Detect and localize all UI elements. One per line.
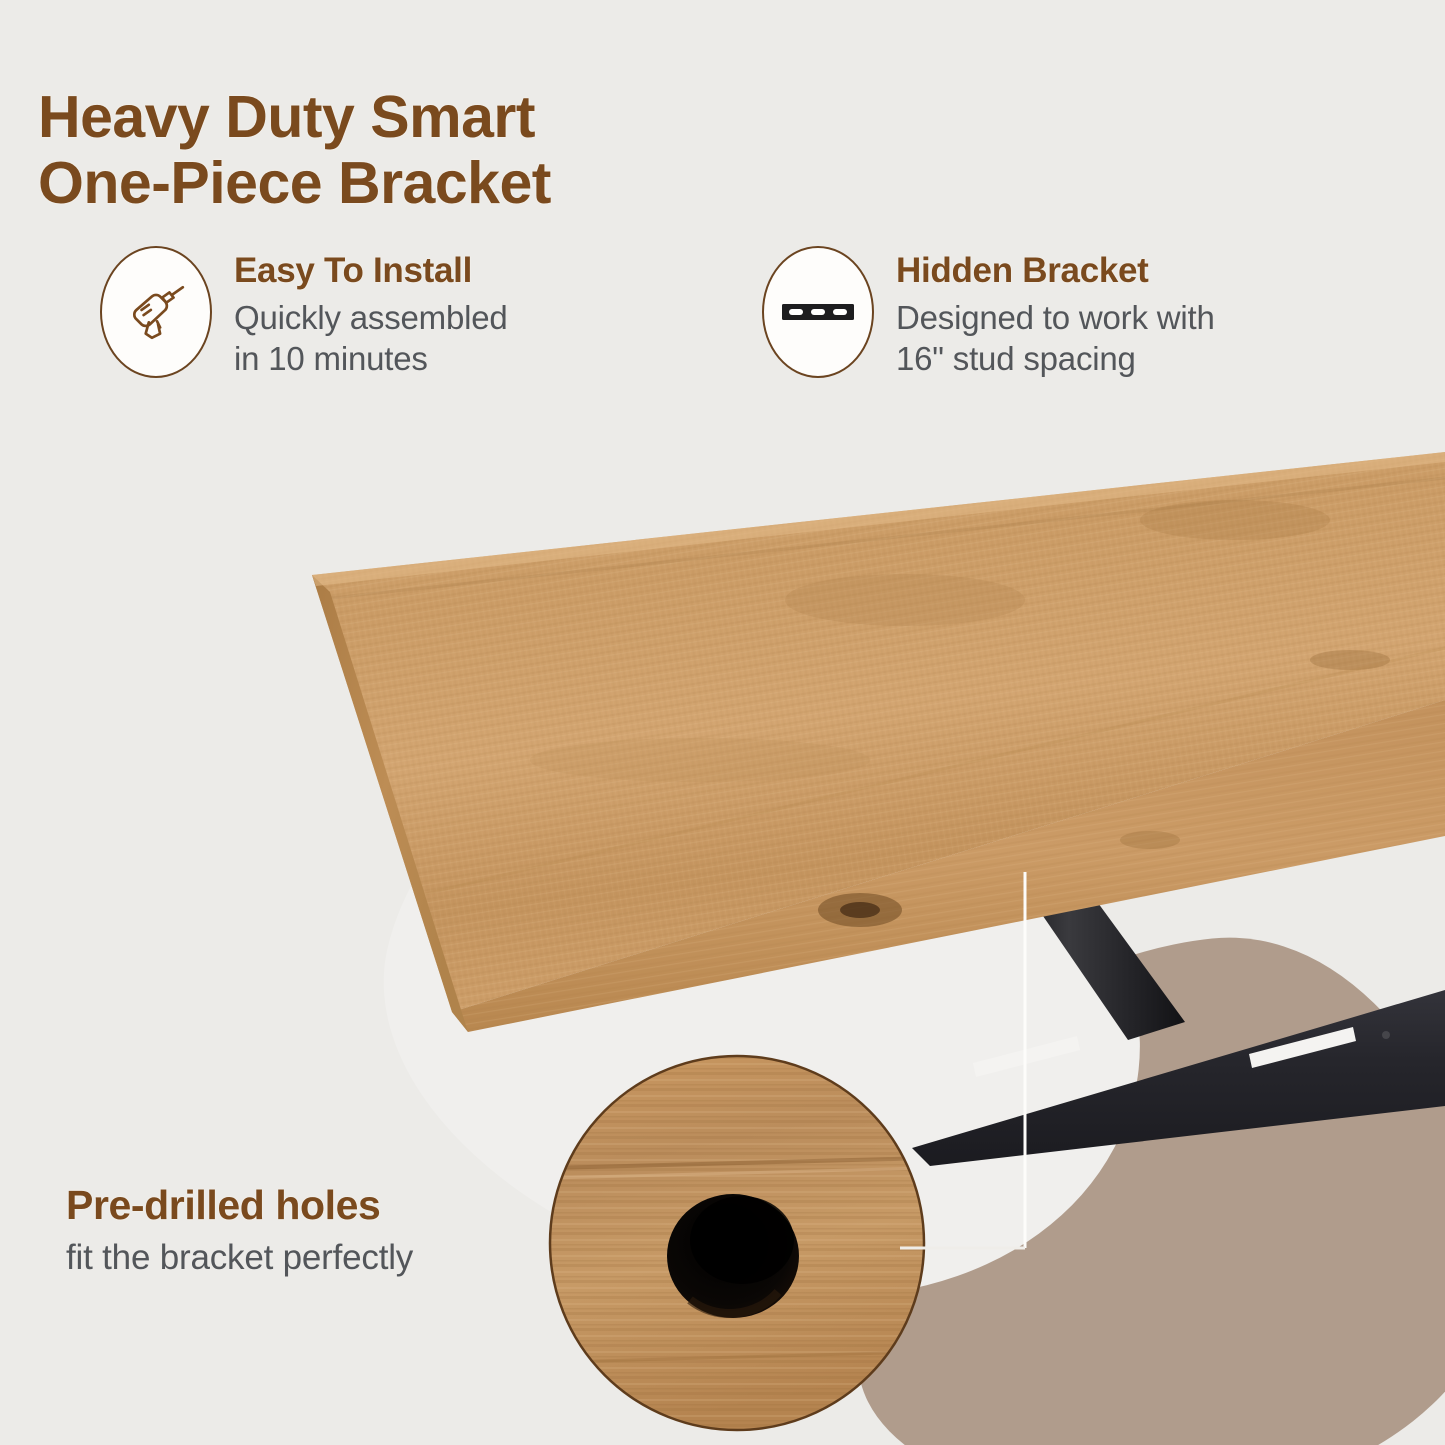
- feature-text: Easy To Install Quickly assembled in 10 …: [234, 246, 508, 379]
- caption-subtitle: fit the bracket perfectly: [66, 1237, 413, 1279]
- caption-title: Pre-drilled holes: [66, 1183, 413, 1229]
- bracket-pilot-dot: [1382, 1031, 1390, 1039]
- wood-shelf: [280, 420, 1445, 1060]
- product-infographic: Heavy Duty Smart One-Piece Bracket Easy …: [0, 0, 1445, 1445]
- feature-description: Designed to work with 16" stud spacing: [896, 297, 1215, 380]
- feature-text: Hidden Bracket Designed to work with 16"…: [896, 246, 1215, 379]
- page-title: Heavy Duty Smart One-Piece Bracket: [38, 84, 858, 216]
- wall-bracket-bar-icon: [780, 297, 856, 327]
- feature-title: Hidden Bracket: [896, 252, 1215, 291]
- power-drill-icon: [123, 279, 189, 345]
- pre-drilled-holes-caption: Pre-drilled holes fit the bracket perfec…: [66, 1183, 413, 1279]
- title-line-2: One-Piece Bracket: [38, 150, 858, 216]
- feature-icon-badge: [100, 246, 212, 378]
- magnified-hole-inset: [540, 1046, 940, 1445]
- feature-title: Easy To Install: [234, 252, 508, 291]
- feature-item-easy-to-install: Easy To Install Quickly assembled in 10 …: [100, 246, 700, 379]
- title-line-1: Heavy Duty Smart: [38, 84, 535, 150]
- feature-icon-badge: [762, 246, 874, 378]
- feature-item-hidden-bracket: Hidden Bracket Designed to work with 16"…: [762, 246, 1382, 379]
- feature-description: Quickly assembled in 10 minutes: [234, 297, 508, 380]
